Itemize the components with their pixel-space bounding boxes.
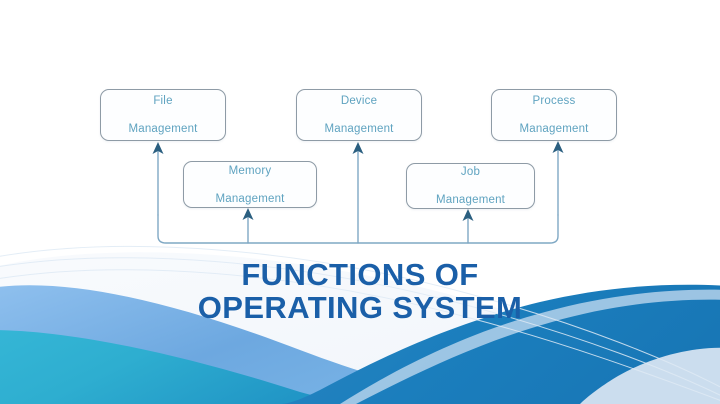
node-process-management-label: Process Management [519,94,588,136]
node-memory-management[interactable]: Memory Management [183,161,317,208]
page-title-line2: OPERATING SYSTEM [0,291,720,324]
wave-cyan-band [0,330,370,404]
node-job-management-label: Job Management [436,165,505,207]
node-file-management-label: File Management [128,94,197,136]
node-device-management[interactable]: Device Management [296,89,422,141]
node-file-management-line1: File [128,94,197,108]
node-process-management-line1: Process [519,94,588,108]
node-device-management-line2: Management [324,122,393,136]
node-process-management-line2: Management [519,122,588,136]
node-file-management[interactable]: File Management [100,89,226,141]
page-title-line1: FUNCTIONS OF [0,258,720,291]
node-device-management-label: Device Management [324,94,393,136]
node-memory-management-line1: Memory [215,164,284,178]
node-process-management[interactable]: Process Management [491,89,617,141]
node-job-management-line1: Job [436,165,505,179]
node-job-management[interactable]: Job Management [406,163,535,209]
node-memory-management-line2: Management [215,192,284,206]
page-title: FUNCTIONS OF OPERATING SYSTEM [0,258,720,324]
node-device-management-line1: Device [324,94,393,108]
node-file-management-line2: Management [128,122,197,136]
wave-pale-notch [580,348,720,404]
node-memory-management-label: Memory Management [215,164,284,206]
slide-canvas: File Management Memory Management Device… [0,0,720,404]
node-job-management-line2: Management [436,193,505,207]
